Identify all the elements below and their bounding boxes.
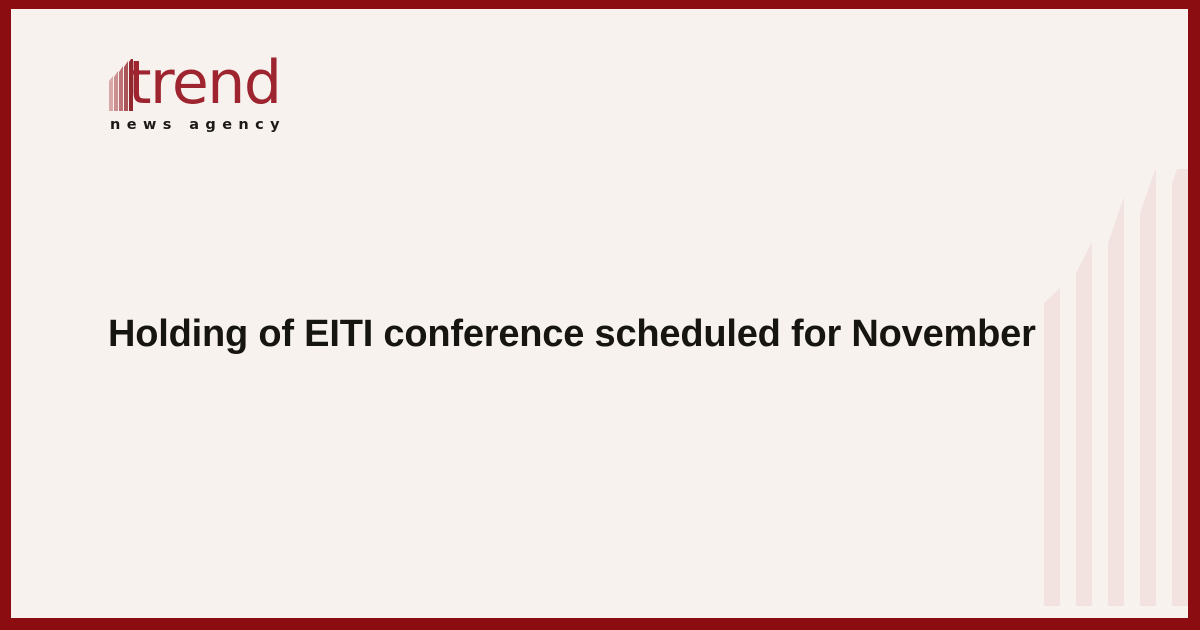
ascending-bars-watermark xyxy=(1036,169,1188,606)
logo-tagline: news agency xyxy=(110,117,286,133)
brand-logo[interactable]: trend news agency xyxy=(108,53,278,139)
headline-text: Holding of EITI conference scheduled for… xyxy=(108,309,1068,359)
article-share-card: trend news agency Holding of EITI confer… xyxy=(0,0,1200,630)
card-inner: trend news agency Holding of EITI confer… xyxy=(11,9,1188,618)
logo-wordmark: trend xyxy=(128,53,280,113)
